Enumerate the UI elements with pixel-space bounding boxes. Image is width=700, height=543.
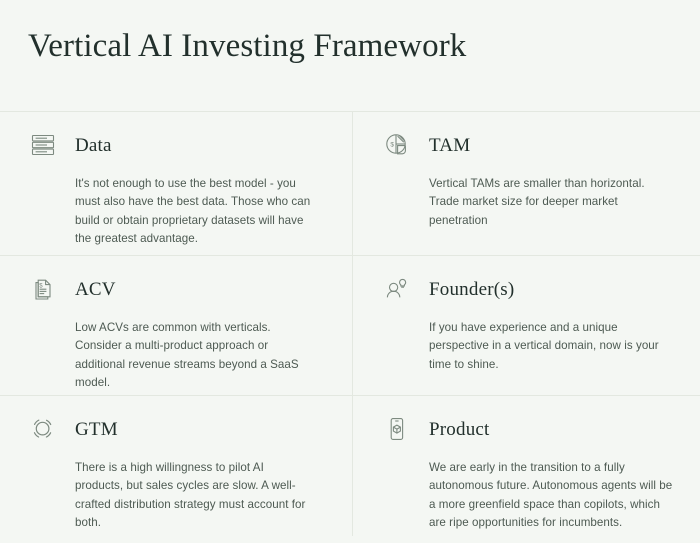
- cell-body: Low ACVs are common with verticals. Cons…: [75, 319, 311, 393]
- cell-body: It's not enough to use the best model - …: [75, 175, 311, 249]
- cell-body: There is a high willingness to pilot AI …: [75, 459, 311, 533]
- invoice-documents-icon: $: [28, 276, 58, 308]
- cell-body: Vertical TAMs are smaller than horizonta…: [429, 175, 676, 230]
- target-ring-icon: [28, 416, 58, 448]
- framework-cell-gtm: GTM There is a high willingness to pilot…: [0, 395, 352, 535]
- cell-body: If you have experience and a unique pers…: [429, 319, 676, 374]
- cell-title: Founder(s): [429, 276, 514, 302]
- server-stack-icon: [28, 132, 58, 164]
- framework-infographic: Vertical AI Investing Framework Data It: [0, 0, 700, 543]
- cell-body: We are early in the transition to a full…: [429, 459, 676, 533]
- cell-header: GTM: [28, 416, 318, 450]
- cell-header: Founder(s): [382, 276, 676, 310]
- phone-cube-icon: [382, 416, 412, 448]
- cell-header: Product: [382, 416, 676, 450]
- svg-text:$: $: [39, 283, 43, 289]
- framework-cell-acv: $ ACV Low ACVs are common with verticals…: [0, 255, 352, 395]
- cell-header: $ ACV: [28, 276, 318, 310]
- cell-header: $ TAM: [382, 132, 676, 166]
- cell-title: ACV: [75, 276, 116, 302]
- framework-grid: Data It's not enough to use the best mod…: [0, 111, 700, 535]
- framework-cell-founders: Founder(s) If you have experience and a …: [352, 255, 700, 395]
- svg-text:$: $: [390, 141, 394, 148]
- framework-cell-tam: $ TAM Vertical TAMs are smaller than hor…: [352, 111, 700, 255]
- cell-title: TAM: [429, 132, 470, 158]
- page-title: Vertical AI Investing Framework: [28, 26, 466, 66]
- framework-cell-product: Product We are early in the transition t…: [352, 395, 700, 535]
- person-lightbulb-icon: [382, 276, 412, 308]
- cell-header: Data: [28, 132, 318, 166]
- cell-title: GTM: [75, 416, 118, 442]
- cell-title: Data: [75, 132, 112, 158]
- cell-title: Product: [429, 416, 490, 442]
- pie-chart-dollar-icon: $: [382, 132, 412, 164]
- framework-cell-data: Data It's not enough to use the best mod…: [0, 111, 352, 255]
